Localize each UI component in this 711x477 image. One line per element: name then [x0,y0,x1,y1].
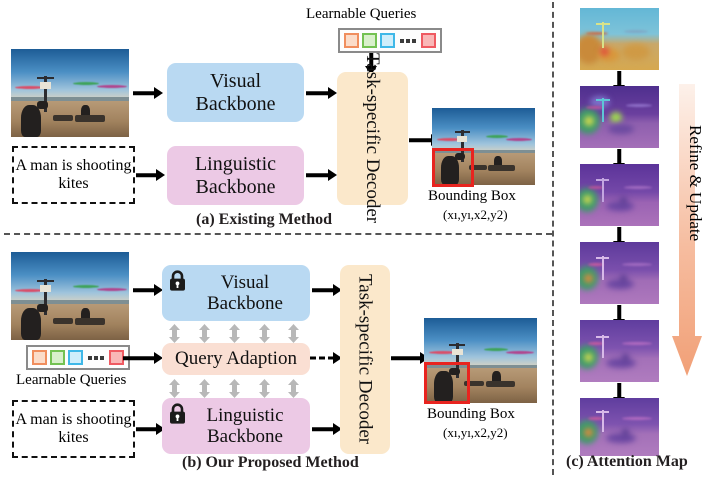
panel-b-visual-backbone-label-line1: Visual [207,272,283,293]
panel-a-linguistic-backbone-block: Linguistic Backbone [167,146,304,205]
panel-b-decoder-label: Task-specific Decoder [354,274,375,444]
panel-a-visual-backbone-label-line2: Backbone [196,93,276,115]
bidirectional-arrow-visual-2 [199,324,210,343]
panel-b-input-image [11,252,129,340]
panel-a-caption: (a) Existing Method [196,211,332,229]
panel-b-bounding-box-overlay [424,362,470,404]
query-cell-n [421,33,436,48]
query-cell-1 [344,33,359,48]
lock-icon [168,270,187,297]
panel-a-learnable-queries-label: Learnable Queries [306,6,416,23]
panel-a-bounding-box-overlay [432,148,474,187]
panel-b-learnable-queries-label: Learnable Queries [16,372,126,389]
refine-update-label: Refine & Update [685,125,705,241]
attention-map-step-2 [580,86,659,148]
panel-b-learnable-queries-strip [26,345,130,370]
bidirectional-arrow-visual-1 [169,324,180,343]
panel-b-output-coords: (xı,yı,x2,y2) [443,425,508,441]
panel-divider-horizontal [4,233,552,235]
panel-b-linguistic-backbone-label-line1: Linguistic [206,405,283,426]
query-cell-2 [50,350,65,365]
panel-a-text-prompt-box: A man is shooting kites [12,146,135,204]
query-cell-3 [380,33,395,48]
query-ellipsis-icon [86,356,106,360]
query-ellipsis-icon [398,39,418,43]
bidirectional-arrow-linguistic-5 [288,379,299,398]
query-cell-3 [68,350,83,365]
panel-b-text-prompt-box: A man is shooting kites [12,400,135,458]
bidirectional-arrow-linguistic-4 [259,379,270,398]
attention-map-step-1 [580,8,659,70]
figure-root: Learnable Queries Visual [0,0,711,477]
bidirectional-arrow-linguistic-2 [199,379,210,398]
panel-b-linguistic-backbone-label-line2: Backbone [206,426,283,447]
panel-a-decoder-label: Task-specific Decoder [362,53,383,223]
panel-a-linguistic-backbone-label-line1: Linguistic [195,153,276,175]
attention-map-step-6 [580,398,659,456]
panel-a-decoder-block: Task-specific Decoder [337,72,408,205]
panel-b-caption: (b) Our Proposed Method [182,454,359,472]
panel-b-query-adaption-label: Query Adaption [175,348,297,369]
query-cell-1 [32,350,47,365]
panel-a-visual-backbone-label-line1: Visual [196,70,276,92]
panel-a-output-coords: (xı,yı,x2,y2) [443,207,508,223]
query-cell-n [109,350,124,365]
attention-map-step-5 [580,320,659,382]
panel-a-linguistic-backbone-label-line2: Backbone [195,176,276,198]
query-cell-2 [362,33,377,48]
panel-b-decoder-block: Task-specific Decoder [340,265,390,454]
attention-map-step-4 [580,242,659,304]
panel-a-learnable-queries-strip [338,28,442,53]
panel-a-output-label: Bounding Box [428,188,516,205]
bidirectional-arrow-visual-3 [229,324,240,343]
bidirectional-arrow-visual-4 [259,324,270,343]
bidirectional-arrow-linguistic-1 [169,379,180,398]
panel-c-caption: (c) Attention Map [566,453,688,471]
panel-a-visual-backbone-block: Visual Backbone [167,63,304,122]
panel-a-input-image [11,49,129,137]
bidirectional-arrow-linguistic-3 [229,379,240,398]
panel-a-text-prompt-line1: A man is [15,157,72,174]
panel-b-visual-backbone-label-line2: Backbone [207,293,283,314]
panel-b-query-adaption-block: Query Adaption [162,343,310,375]
bidirectional-arrow-visual-5 [288,324,299,343]
panel-b-output-label: Bounding Box [427,406,515,423]
panel-divider-vertical [552,2,554,475]
panel-b-text-prompt-line1: A man is [15,411,72,428]
attention-map-step-3 [580,164,659,226]
lock-icon [168,403,187,430]
